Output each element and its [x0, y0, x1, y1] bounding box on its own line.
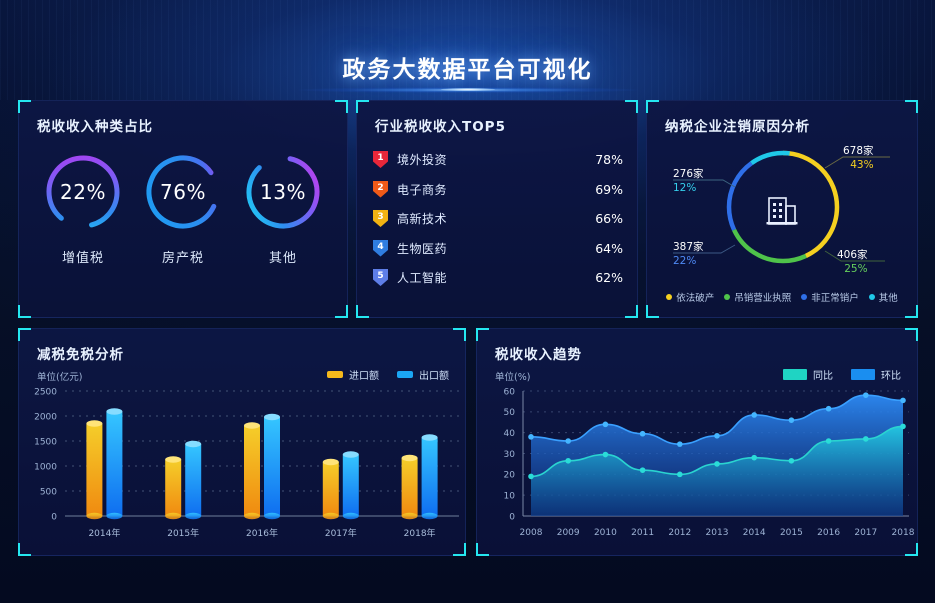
svg-text:2011: 2011	[631, 528, 654, 538]
industry-name: 生物医药	[397, 240, 463, 257]
rank-badge-icon: 1	[373, 151, 388, 168]
gauge-label: 其他	[235, 247, 331, 266]
corner-bracket-tl	[476, 328, 489, 341]
gauge-ring: 13%	[242, 151, 324, 233]
corner-bracket-tl	[646, 100, 659, 113]
panel-cancellation-reason: 纳税企业注销原因分析	[646, 100, 918, 318]
legend-dot-icon	[724, 294, 730, 300]
legend-label: 进口额	[349, 367, 379, 382]
svg-text:2000: 2000	[34, 412, 57, 422]
svg-text:2018: 2018	[892, 528, 915, 538]
legend-item[interactable]: 非正常销户	[801, 290, 859, 304]
gauge-ring: 76%	[142, 151, 224, 233]
svg-text:2500: 2500	[34, 387, 57, 397]
industry-name: 境外投资	[397, 151, 463, 168]
gauge-other[interactable]: 13% 其他	[235, 151, 331, 266]
area-series	[528, 392, 906, 516]
percent-value: 78%	[589, 152, 623, 167]
gauge-value: 76%	[142, 151, 224, 233]
corner-bracket-bl	[646, 305, 659, 318]
building-icon	[762, 190, 802, 230]
gauge-property-tax[interactable]: 76% 房产税	[135, 151, 231, 266]
legend-item[interactable]: 依法破产	[666, 290, 714, 304]
svg-text:2015: 2015	[780, 528, 803, 538]
legend-item[interactable]: 吊销营业执照	[724, 290, 791, 304]
svg-text:2013: 2013	[706, 528, 729, 538]
corner-bracket-bl	[18, 305, 31, 318]
rank-badge-icon: 5	[373, 269, 388, 286]
bar-grid	[65, 391, 459, 516]
panel-industry-tax-top5: 行业税收收入TOP5 1 境外投资 78% 2 电子商务 69% 3 高新技术 …	[356, 100, 638, 318]
area-y-axis: 0102030405060	[504, 387, 516, 522]
panel-title: 行业税收收入TOP5	[375, 115, 506, 135]
industry-name: 电子商务	[397, 181, 463, 198]
legend-label: 出口额	[419, 367, 449, 382]
gauge-ring: 22%	[42, 151, 124, 233]
legend-item-export[interactable]: 出口额	[397, 367, 449, 382]
svg-text:2010: 2010	[594, 528, 617, 538]
list-item[interactable]: 5 人工智能 62%	[373, 263, 623, 292]
bar-x-axis: 2014年2015年2016年2017年2018年	[88, 527, 435, 539]
svg-text:2018年: 2018年	[404, 527, 436, 539]
svg-text:2014年: 2014年	[88, 527, 120, 539]
axis-unit-label: 单位(%)	[495, 369, 530, 383]
gauge-row: 22% 增值税	[19, 151, 347, 266]
legend-item-yoy[interactable]: 同比	[783, 367, 833, 382]
percent-value: 66%	[589, 211, 623, 226]
svg-text:1500: 1500	[34, 437, 57, 447]
rank-badge-icon: 3	[373, 210, 388, 227]
svg-text:1000: 1000	[34, 462, 57, 472]
svg-text:500: 500	[40, 487, 57, 497]
legend-dot-icon	[801, 294, 807, 300]
legend-chip-icon	[327, 371, 343, 378]
list-item[interactable]: 4 生物医药 64%	[373, 234, 623, 263]
svg-text:10: 10	[504, 491, 516, 501]
legend-chip-icon	[851, 369, 875, 380]
list-item[interactable]: 3 高新技术 66%	[373, 204, 623, 233]
svg-text:2016: 2016	[817, 528, 840, 538]
donut-label-bankruptcy: 678家 43%	[843, 143, 874, 171]
corner-bracket-bl	[356, 305, 369, 318]
legend-dot-icon	[869, 294, 875, 300]
corner-bracket-br	[335, 305, 348, 318]
svg-text:2017: 2017	[854, 528, 877, 538]
svg-text:2008: 2008	[520, 528, 543, 538]
corner-bracket-tr	[905, 100, 918, 113]
panel-tax-reduction-analysis: 减税免税分析 单位(亿元) 进口额 出口额	[18, 328, 466, 556]
corner-bracket-tr	[453, 328, 466, 341]
industry-name: 人工智能	[397, 269, 463, 286]
list-item[interactable]: 1 境外投资 78%	[373, 145, 623, 174]
progress-track	[463, 274, 581, 282]
axis-unit-label: 单位(亿元)	[37, 369, 82, 383]
legend-dot-icon	[666, 294, 672, 300]
top5-list: 1 境外投资 78% 2 电子商务 69% 3 高新技术 66% 4 生物医药	[373, 145, 623, 293]
corner-bracket-tl	[18, 328, 31, 341]
legend-label: 环比	[881, 367, 901, 382]
gauge-label: 房产税	[135, 247, 231, 266]
industry-name: 高新技术	[397, 210, 463, 227]
progress-track	[463, 185, 581, 193]
rank-badge-icon: 4	[373, 240, 388, 257]
progress-track	[463, 215, 581, 223]
svg-text:2012: 2012	[668, 528, 691, 538]
area-x-axis: 2008200920102011201220132014201520162017…	[520, 528, 915, 538]
svg-text:2009: 2009	[557, 528, 580, 538]
svg-text:2015年: 2015年	[167, 527, 199, 539]
bar-chart-legend: 进口额 出口额	[327, 367, 449, 382]
area-chart-legend: 同比 环比	[783, 367, 901, 382]
legend-label: 吊销营业执照	[734, 290, 791, 304]
svg-text:20: 20	[504, 471, 516, 481]
percent-value: 69%	[589, 182, 623, 197]
svg-text:50: 50	[504, 408, 516, 418]
corner-bracket-tr	[335, 100, 348, 113]
svg-text:2016年: 2016年	[246, 527, 278, 539]
svg-text:0: 0	[51, 512, 57, 522]
gauge-vat[interactable]: 22% 增值税	[35, 151, 131, 266]
legend-chip-icon	[783, 369, 807, 380]
donut-legend: 依法破产 吊销营业执照 非正常销户 其他	[647, 290, 917, 304]
page-title: 政务大数据平台可视化	[0, 50, 935, 84]
panel-tax-revenue-trend: 税收收入趋势 单位(%) 同比 环比	[476, 328, 918, 556]
panel-tax-type-share: 税收收入种类占比	[18, 100, 348, 318]
corner-bracket-br	[905, 305, 918, 318]
legend-label: 非正常销户	[811, 290, 859, 304]
corner-bracket-tl	[356, 100, 369, 113]
progress-track	[463, 244, 581, 252]
legend-label: 依法破产	[676, 290, 714, 304]
percent-value: 62%	[589, 270, 623, 285]
donut-label-license-revoked: 406家 25%	[837, 247, 868, 275]
corner-bracket-tl	[18, 100, 31, 113]
header-glow-core-decoration	[441, 88, 495, 91]
corner-bracket-tr	[905, 328, 918, 341]
legend-item[interactable]: 其他	[869, 290, 898, 304]
svg-text:0: 0	[509, 512, 515, 522]
bar-series	[86, 408, 437, 519]
svg-text:2014: 2014	[743, 528, 766, 538]
legend-item-mom[interactable]: 环比	[851, 367, 901, 382]
corner-bracket-br	[625, 305, 638, 318]
bar-y-axis: 05001000150020002500	[34, 387, 57, 522]
area-chart-svg[interactable]: 0102030405060 20082009201020112012201320…	[477, 383, 919, 558]
panel-title: 减税免税分析	[37, 343, 124, 363]
percent-value: 64%	[589, 241, 623, 256]
panel-title: 税收收入趋势	[495, 343, 582, 363]
panel-title: 纳税企业注销原因分析	[665, 115, 810, 135]
dashboard-header: 政务大数据平台可视化	[0, 0, 935, 100]
dashboard-root: 政务大数据平台可视化 税收收入种类占比	[0, 0, 935, 603]
donut-chart: 678家 43% 406家 25% 387家 22% 276家 12%	[647, 135, 917, 285]
donut-label-abnormal: 387家 22%	[673, 239, 704, 267]
corner-bracket-tr	[625, 100, 638, 113]
donut-label-other: 276家 12%	[673, 166, 704, 194]
svg-text:2017年: 2017年	[325, 527, 357, 539]
legend-chip-icon	[397, 371, 413, 378]
progress-track	[463, 156, 581, 164]
list-item[interactable]: 2 电子商务 69%	[373, 175, 623, 204]
svg-text:60: 60	[504, 387, 516, 397]
svg-text:30: 30	[504, 450, 516, 460]
legend-label: 其他	[879, 290, 898, 304]
gauge-value: 22%	[42, 151, 124, 233]
bar-chart-svg[interactable]: 05001000150020002500 2014年2015年2016年2017…	[19, 383, 467, 558]
panel-title: 税收收入种类占比	[37, 115, 153, 135]
gauge-value: 13%	[242, 151, 324, 233]
svg-text:40: 40	[504, 429, 516, 439]
gauge-label: 增值税	[35, 247, 131, 266]
rank-badge-icon: 2	[373, 181, 388, 198]
legend-label: 同比	[813, 367, 833, 382]
legend-item-import[interactable]: 进口额	[327, 367, 379, 382]
